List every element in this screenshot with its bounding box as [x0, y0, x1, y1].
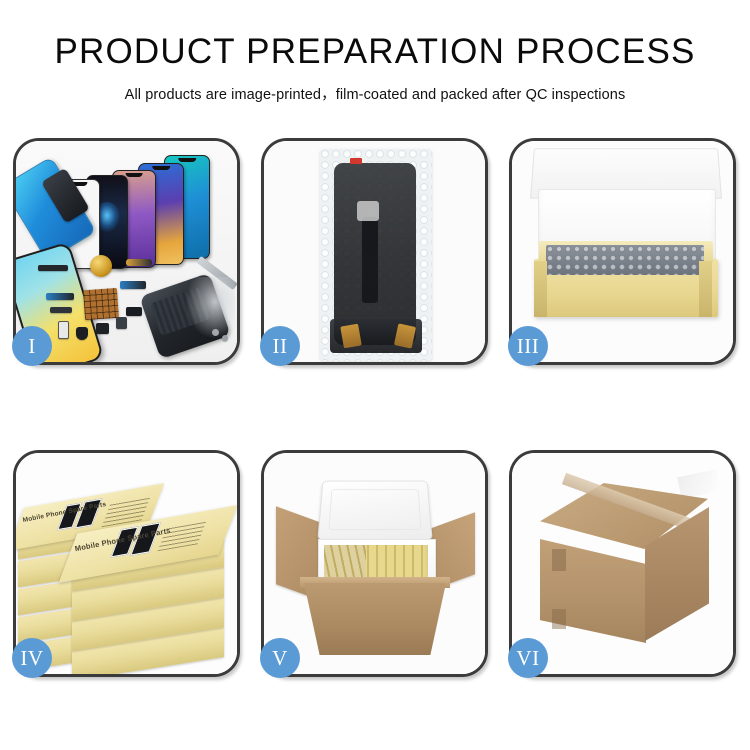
- header: PRODUCT PREPARATION PROCESS All products…: [0, 34, 750, 104]
- small-component-icon: [126, 307, 142, 316]
- process-steps-grid: I II: [13, 138, 737, 677]
- notch-icon: [178, 158, 196, 162]
- step-badge-5: V: [260, 638, 300, 678]
- page-title: PRODUCT PREPARATION PROCESS: [0, 34, 750, 71]
- small-component-icon: [96, 323, 109, 334]
- step-badge-4: IV: [12, 638, 52, 678]
- small-component-icon: [58, 321, 69, 339]
- step-badge-1: I: [12, 326, 52, 366]
- step-4-image: Mobile Phone Spare Parts Mobile Phone Sp…: [16, 453, 237, 674]
- screen-flex-cable-icon: [362, 217, 378, 303]
- notch-icon: [126, 173, 143, 177]
- small-component-icon: [76, 327, 88, 340]
- step-badge-3: III: [508, 326, 548, 366]
- step-5-image: [264, 453, 485, 674]
- carton-seam: [552, 549, 566, 571]
- connector-icon: [340, 324, 362, 349]
- flex-cable-icon: [120, 281, 146, 289]
- foam-lid-icon: [317, 481, 432, 540]
- step-panel-5[interactable]: V: [261, 450, 488, 677]
- flex-cable-icon: [38, 265, 68, 271]
- flex-cable-icon: [126, 259, 152, 266]
- step-3-image: [512, 141, 733, 362]
- chip-board-icon: [83, 288, 119, 320]
- step-panel-1[interactable]: I: [13, 138, 240, 365]
- small-component-icon: [50, 307, 72, 313]
- step-badge-6: VI: [508, 638, 548, 678]
- box-stack-group: Mobile Phone Spare Parts Mobile Phone Sp…: [16, 465, 237, 670]
- copper-coil-icon: [90, 255, 112, 277]
- step-panel-2[interactable]: II: [261, 138, 488, 365]
- grey-bubble-wrap-icon: [546, 245, 704, 275]
- step-2-image: [264, 141, 485, 362]
- carton-seam: [552, 609, 566, 629]
- tray-left-edge: [534, 261, 547, 317]
- step-panel-6[interactable]: VI: [509, 450, 736, 677]
- step-panel-4[interactable]: Mobile Phone Spare Parts Mobile Phone Sp…: [13, 450, 240, 677]
- flex-cable-icon: [46, 293, 74, 300]
- red-sticker-icon: [350, 158, 362, 164]
- step-badge-2: II: [260, 326, 300, 366]
- step-1-image: [16, 141, 237, 362]
- small-component-icon: [116, 317, 127, 329]
- step-panel-3[interactable]: III: [509, 138, 736, 365]
- page-subtitle: All products are image-printed，film-coat…: [0, 83, 750, 104]
- carton-body-icon: [304, 583, 446, 655]
- notch-icon: [152, 166, 170, 170]
- step-6-image: [512, 453, 733, 674]
- bubble-wrap-bag-icon: [320, 149, 432, 361]
- product-preparation-infographic: PRODUCT PREPARATION PROCESS All products…: [0, 0, 750, 750]
- tray-right-edge: [699, 261, 712, 317]
- tool-blur-highlight: [185, 277, 235, 339]
